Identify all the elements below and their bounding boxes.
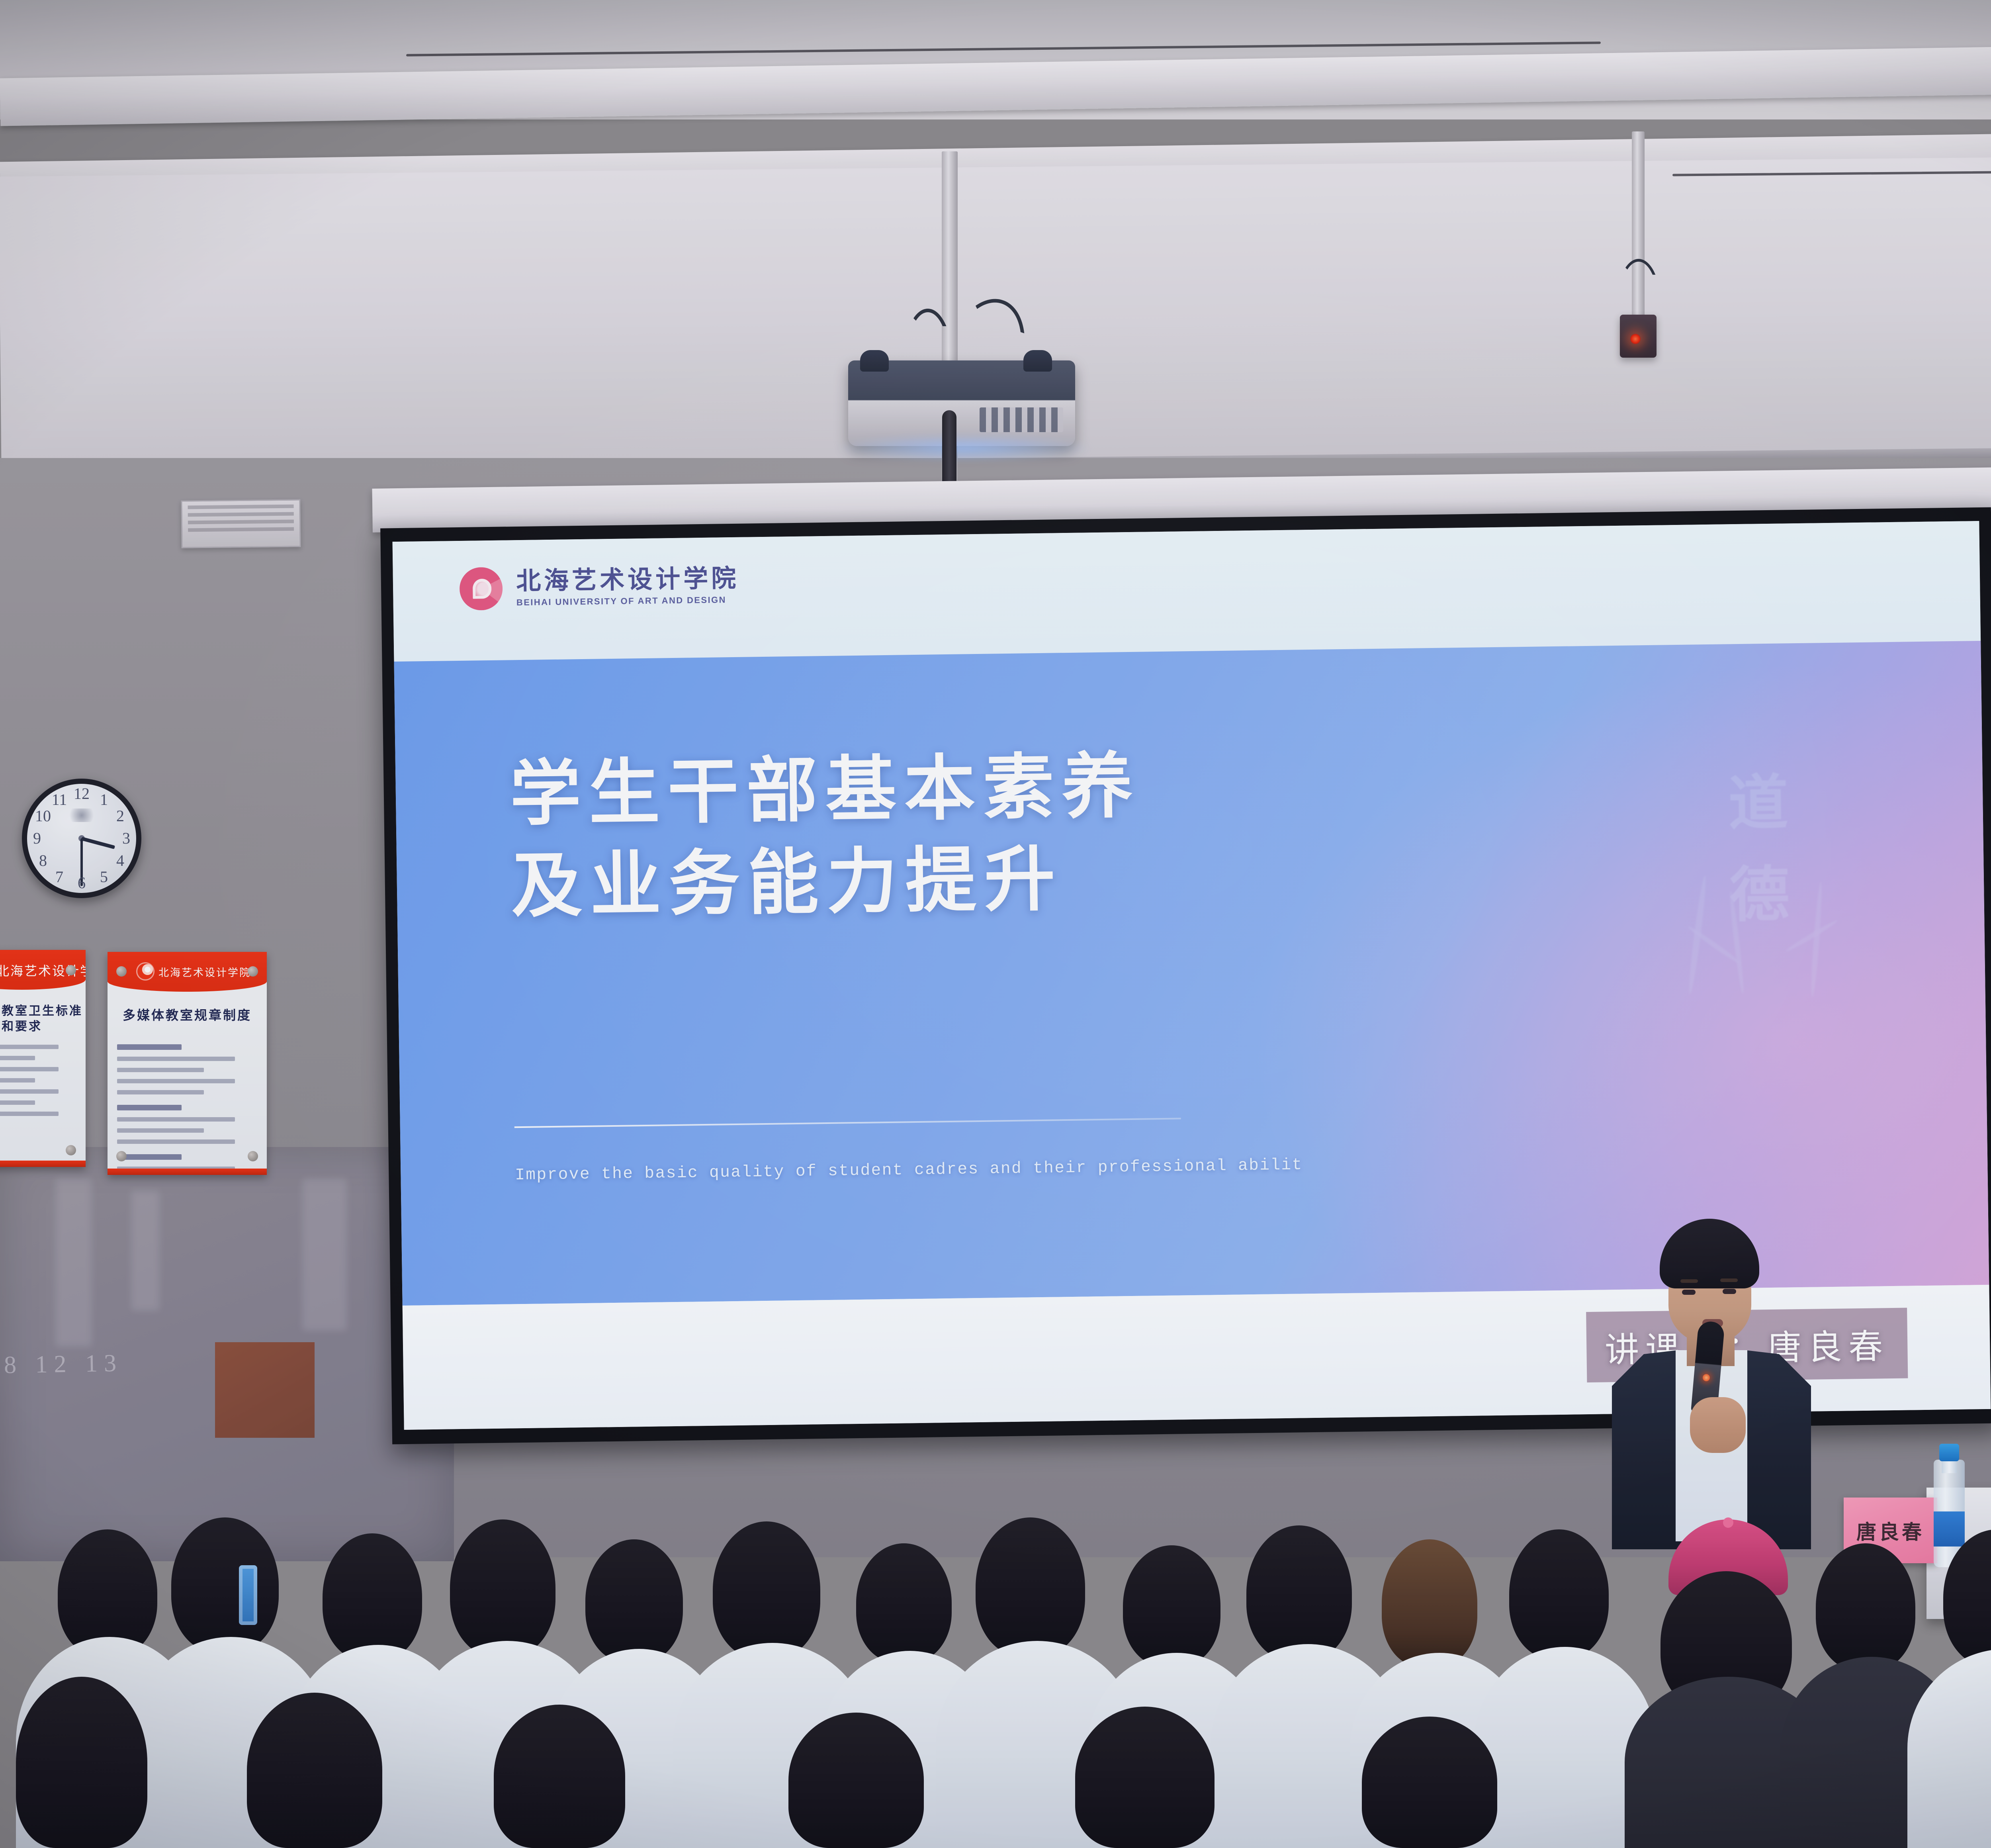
slide-title: 学生干部基本素养 及业务能力提升 (509, 741, 1142, 933)
wall-clock: 121234567891011 (22, 779, 141, 898)
chalk-smudge (131, 1191, 159, 1310)
slide-title-line-2: 及业务能力提升 (510, 833, 1142, 933)
audience-head (450, 1519, 555, 1657)
poster-footer-band (108, 1169, 267, 1175)
institution-name-block: 北海艺术设计学院 BEIHAI UNIVERSITY OF ART AND DE… (516, 566, 739, 608)
audience-head (856, 1543, 952, 1663)
camera-status-led (1630, 334, 1641, 344)
audience-head (713, 1521, 820, 1659)
wall-air-vent (181, 499, 301, 548)
clock-numeral: 7 (49, 867, 69, 886)
audience (0, 1505, 1991, 1848)
presenter-figure (1592, 1219, 1831, 1549)
audience-head-front (494, 1705, 625, 1848)
poster-title: 多媒体教室规章制度 (108, 1005, 267, 1024)
poster-hygiene-standards: 北海艺术设计学院 多媒体教室卫生标准和要求 (0, 950, 86, 1167)
audience-head (585, 1539, 683, 1663)
bottle-cap (1939, 1444, 1959, 1461)
clock-numeral: 1 (94, 790, 114, 809)
audience-head-front (788, 1713, 924, 1848)
lecture-hall-scene: 8 12 13 121234567891011 北海艺术设计学院 多媒体教室卫生… (0, 0, 1991, 1848)
clock-numeral: 10 (33, 807, 53, 825)
slide-institution-logo: 北海艺术设计学院 BEIHAI UNIVERSITY OF ART AND DE… (460, 564, 739, 611)
audience-head (1943, 1529, 1991, 1667)
blue-hair-clip (239, 1565, 257, 1625)
clock-numeral: 3 (116, 829, 136, 848)
clock-numeral: 2 (110, 807, 130, 825)
clock-numeral: 11 (49, 790, 69, 809)
clock-numeral: 5 (94, 867, 114, 886)
institution-name-en: BEIHAI UNIVERSITY OF ART AND DESIGN (516, 595, 739, 608)
audience-head-front (16, 1677, 147, 1848)
audience-head-front (1075, 1707, 1215, 1848)
slide-title-line-1: 学生干部基本素养 (509, 741, 1141, 841)
presenter-hand (1690, 1397, 1746, 1453)
clock-numeral: 12 (72, 784, 92, 803)
projector-light-glow (836, 434, 1091, 462)
audience-head (1123, 1545, 1220, 1667)
clock-numeral: 6 (72, 873, 92, 892)
slide-body-gradient (394, 641, 1989, 1306)
audience-head (976, 1517, 1085, 1657)
audience-head (323, 1533, 422, 1661)
poster-classroom-rules: 北海艺术设计学院 多媒体教室规章制度 (108, 952, 267, 1175)
poster-footer-band (0, 1161, 86, 1167)
audience-head (1509, 1529, 1609, 1659)
chalk-smudge (56, 1179, 92, 1346)
audience-head-front (247, 1693, 382, 1848)
chalk-smudge (303, 1179, 346, 1330)
poster-header-band: 北海艺术设计学院 (108, 952, 267, 992)
microphone-led (1703, 1374, 1710, 1381)
audience-head-front (1362, 1717, 1497, 1848)
clock-numeral: 9 (27, 829, 47, 848)
blackboard-chalk-text: 8 12 13 (4, 1349, 123, 1379)
poster-body (0, 1034, 86, 1116)
clock-hour-hand (81, 837, 115, 849)
blackboard-patch (215, 1342, 315, 1438)
cap-button (1723, 1517, 1733, 1528)
ceiling-projector (848, 360, 1075, 446)
audience-head (171, 1517, 279, 1653)
poster-title: 多媒体教室卫生标准和要求 (0, 1003, 86, 1034)
poster-body (108, 1024, 267, 1175)
institution-name-cn: 北海艺术设计学院 (516, 566, 739, 595)
audience-head-light-hair (1382, 1539, 1477, 1667)
clock-numeral: 8 (33, 851, 53, 870)
swirl-logo-icon (460, 567, 503, 610)
poster-header-text: 北海艺术设计学院 (158, 965, 251, 979)
presenter-hair (1660, 1219, 1759, 1288)
swirl-logo-icon (136, 962, 155, 981)
clock-brand (66, 808, 98, 822)
audience-head (1246, 1525, 1352, 1661)
audience-head (1816, 1543, 1915, 1671)
clock-numeral: 4 (110, 851, 130, 870)
